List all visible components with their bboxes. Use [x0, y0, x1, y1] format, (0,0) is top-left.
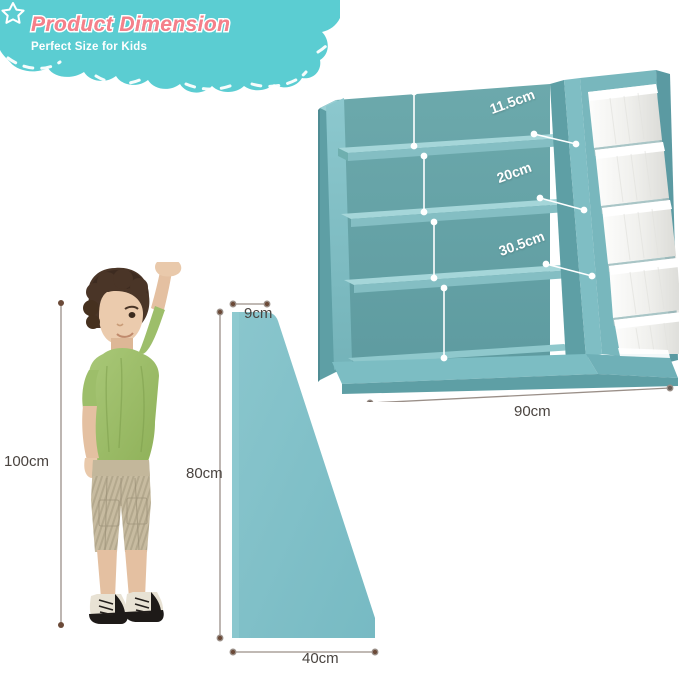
dim-profile-top-width: 9cm [244, 305, 272, 322]
dim-profile-height: 80cm [186, 465, 223, 482]
child-figure [55, 262, 210, 652]
height-rule-100 [56, 299, 66, 626]
dim-profile-base-width: 40cm [302, 650, 339, 667]
page-title: Product Dimension [31, 13, 230, 37]
side-profile-illustration [215, 300, 430, 665]
side-profile-drawing [215, 300, 430, 665]
header-banner: Product Dimension Product Dimension Perf… [0, 0, 340, 96]
dim-child-height: 100cm [4, 453, 49, 470]
banner-subtitle: Perfect Size for Kids [31, 41, 147, 53]
star-icon [0, 0, 26, 26]
dim-overall-width: 90cm [514, 403, 551, 420]
child-illustration [55, 262, 210, 652]
height-rule-line [56, 299, 66, 629]
